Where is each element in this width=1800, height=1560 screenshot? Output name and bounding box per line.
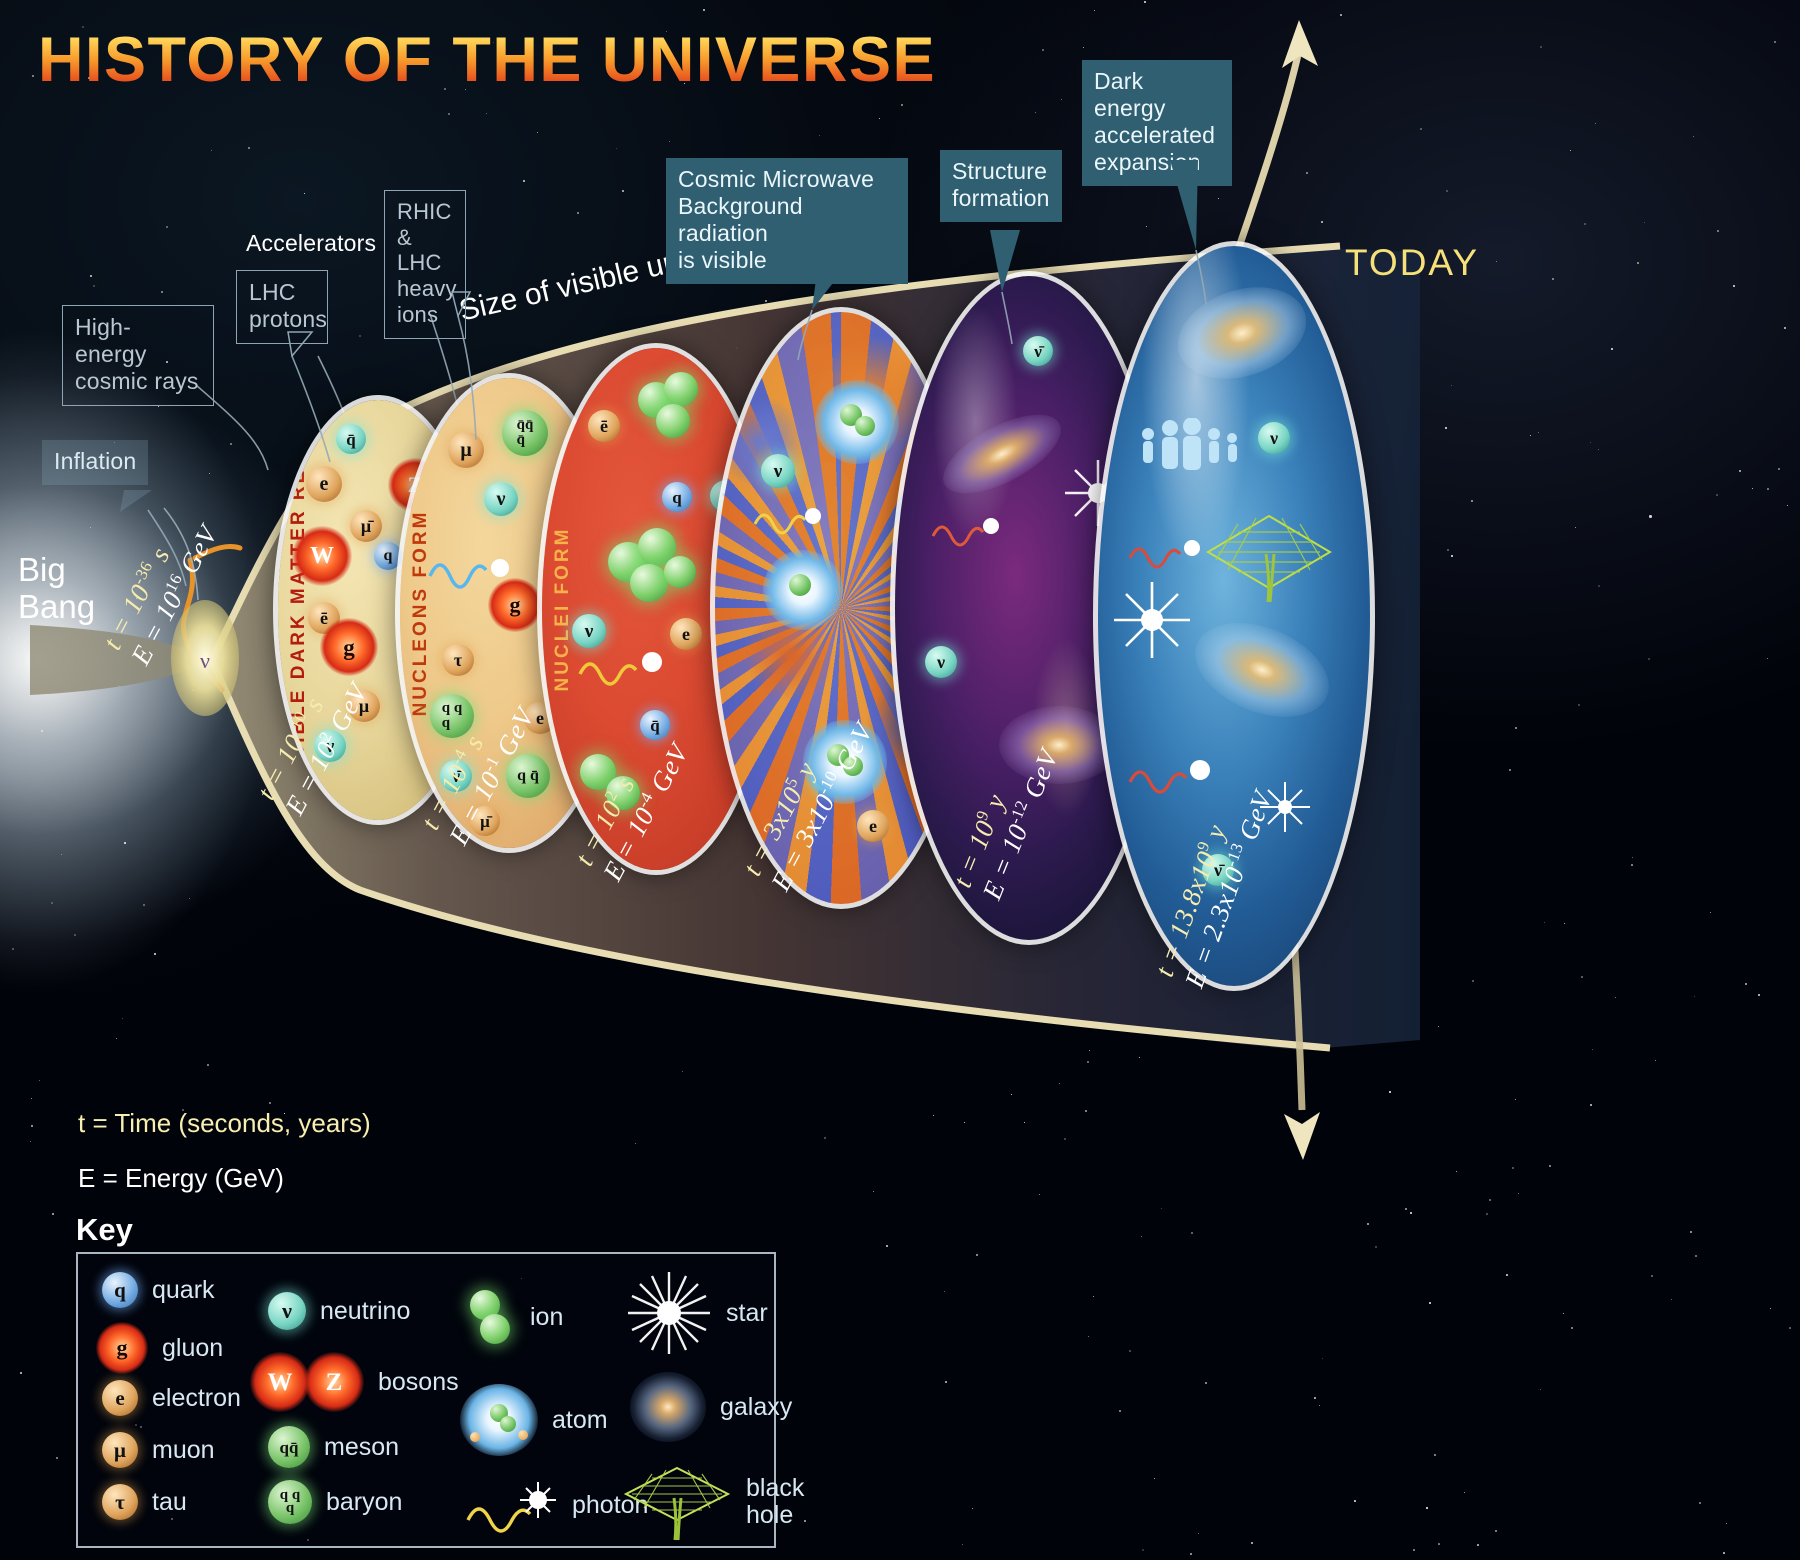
galaxy-icon <box>1181 605 1342 735</box>
callout-text: Inflation <box>54 448 136 474</box>
key-label: gluon <box>162 1334 223 1363</box>
key-item-baryon: q qq baryon <box>268 1480 402 1524</box>
galaxy-icon <box>630 1372 706 1442</box>
today-label: TODAY <box>1345 242 1479 284</box>
star-icon <box>1112 580 1192 660</box>
definition-time: t = Time (seconds, years) <box>78 1108 371 1139</box>
key-item-ion: ion <box>468 1290 563 1344</box>
key-item-atom: atom <box>460 1384 608 1456</box>
key-item-muon: μ muon <box>102 1432 215 1468</box>
photon-icon <box>929 504 1019 554</box>
photon-icon <box>462 1476 558 1534</box>
big-bang-label: BigBang <box>18 552 95 626</box>
key-label: atom <box>552 1406 608 1435</box>
ion-icon <box>468 1290 516 1344</box>
muon-icon: μ <box>102 1432 138 1468</box>
boson-icon: Z <box>304 1352 364 1412</box>
callout-text: Structureformation <box>952 158 1050 211</box>
key-label: bosons <box>378 1368 459 1397</box>
infographic-canvas: ν HISTORY OF THE UNIVERSE POSSIBLE DARK … <box>0 0 1800 1560</box>
boson-icon: W <box>250 1352 310 1412</box>
key-label: muon <box>152 1436 215 1465</box>
galaxy-icon <box>931 399 1072 509</box>
key-box: q quark g gluon e electron μ muon τ tau … <box>76 1252 776 1548</box>
epoch-label-nucleons-form: NUCLEONS FORM <box>410 510 432 717</box>
quark-icon: q <box>102 1272 138 1308</box>
key-item-neutrino: ν neutrino <box>268 1292 410 1330</box>
photon-icon <box>1126 528 1226 574</box>
photon-icon <box>428 548 518 598</box>
key-item-tau: τ tau <box>102 1484 187 1520</box>
key-label: baryon <box>326 1488 402 1517</box>
callout-rhic-lhc-heavy-ions[interactable]: RHIC &LHCheavyions <box>384 190 466 339</box>
gluon-icon: g <box>96 1322 148 1374</box>
callout-text: Dark energyacceleratedexpansion <box>1094 68 1215 175</box>
atom-icon <box>460 1384 538 1456</box>
key-label: ion <box>530 1303 563 1332</box>
callout-text: Accelerators <box>246 230 376 256</box>
key-label: blackhole <box>746 1475 836 1530</box>
key-item-quark: q quark <box>102 1272 215 1308</box>
key-item-electron: e electron <box>102 1380 241 1416</box>
key-item-star: star <box>626 1270 768 1356</box>
callout-text: RHIC &LHCheavyions <box>397 199 457 327</box>
photon-icon <box>576 638 686 692</box>
key-item-photon: photon <box>462 1476 648 1534</box>
page-title: HISTORY OF THE UNIVERSE <box>38 24 936 96</box>
tau-icon: τ <box>102 1484 138 1520</box>
key-label: tau <box>152 1488 187 1517</box>
meson-icon: qq̄ <box>268 1426 310 1468</box>
definition-energy: E = Energy (GeV) <box>78 1163 284 1194</box>
galaxy-icon <box>1166 272 1318 395</box>
key-label: star <box>726 1299 768 1328</box>
callout-cosmic-microwave-background[interactable]: Cosmic MicrowaveBackground radiationis v… <box>666 158 908 284</box>
callout-text: Cosmic MicrowaveBackground radiationis v… <box>678 166 874 273</box>
key-item-gluon: g gluon <box>96 1322 223 1374</box>
key-label: electron <box>152 1384 241 1413</box>
callout-text: LHCprotons <box>249 279 327 332</box>
callout-text: High-energycosmic rays <box>75 314 199 394</box>
key-item-black-hole: blackhole <box>622 1460 836 1544</box>
key-label: neutrino <box>320 1297 410 1326</box>
people-icon <box>1134 418 1244 478</box>
callout-structure-formation[interactable]: Structureformation <box>940 150 1062 222</box>
key-item-galaxy: galaxy <box>630 1372 792 1442</box>
photon-icon <box>751 498 841 538</box>
key-item-bosons: W Z bosons <box>250 1352 459 1412</box>
callout-dark-energy[interactable]: Dark energyacceleratedexpansion <box>1082 60 1232 186</box>
black-hole-icon <box>622 1460 732 1544</box>
epoch-label-nuclei-form: NUCLEI FORM <box>552 527 574 692</box>
key-item-meson: qq̄ meson <box>268 1426 399 1468</box>
neutrino-icon: ν <box>268 1292 306 1330</box>
key-label: galaxy <box>720 1393 792 1422</box>
key-title: Key <box>76 1212 133 1248</box>
star-icon <box>626 1270 712 1356</box>
callout-high-energy-cosmic-rays[interactable]: High-energycosmic rays <box>62 305 214 406</box>
callout-lhc-protons[interactable]: LHCprotons <box>236 270 328 344</box>
key-label: quark <box>152 1276 215 1305</box>
baryon-icon: q qq <box>268 1480 312 1524</box>
callout-accelerators[interactable]: Accelerators <box>234 222 388 267</box>
callout-inflation[interactable]: Inflation <box>42 440 148 485</box>
electron-icon: e <box>102 1380 138 1416</box>
key-label: meson <box>324 1433 399 1462</box>
svg-text:ν: ν <box>200 648 210 673</box>
